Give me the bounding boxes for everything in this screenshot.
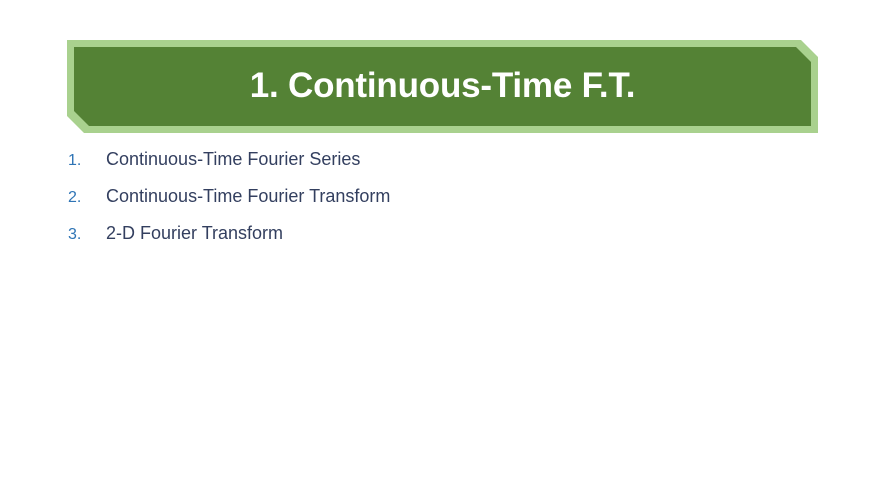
- list-item-number: 2.: [68, 190, 106, 206]
- banner-fill-shape: 1. Continuous-Time F.T.: [74, 47, 811, 126]
- slide-title-banner: 1. Continuous-Time F.T.: [67, 40, 818, 133]
- list-item: 1. Continuous-Time Fourier Series: [68, 150, 768, 187]
- list-item: 3. 2-D Fourier Transform: [68, 224, 768, 261]
- list-item-label: 2-D Fourier Transform: [106, 224, 283, 242]
- list-item-number: 1.: [68, 153, 106, 169]
- agenda-list: 1. Continuous-Time Fourier Series 2. Con…: [68, 150, 768, 261]
- list-item-number: 3.: [68, 227, 106, 243]
- slide-title: 1. Continuous-Time F.T.: [250, 68, 636, 103]
- list-item-label: Continuous-Time Fourier Transform: [106, 187, 390, 205]
- list-item: 2. Continuous-Time Fourier Transform: [68, 187, 768, 224]
- slide-canvas: 1. Continuous-Time F.T. 1. Continuous-Ti…: [0, 0, 874, 490]
- list-item-label: Continuous-Time Fourier Series: [106, 150, 360, 168]
